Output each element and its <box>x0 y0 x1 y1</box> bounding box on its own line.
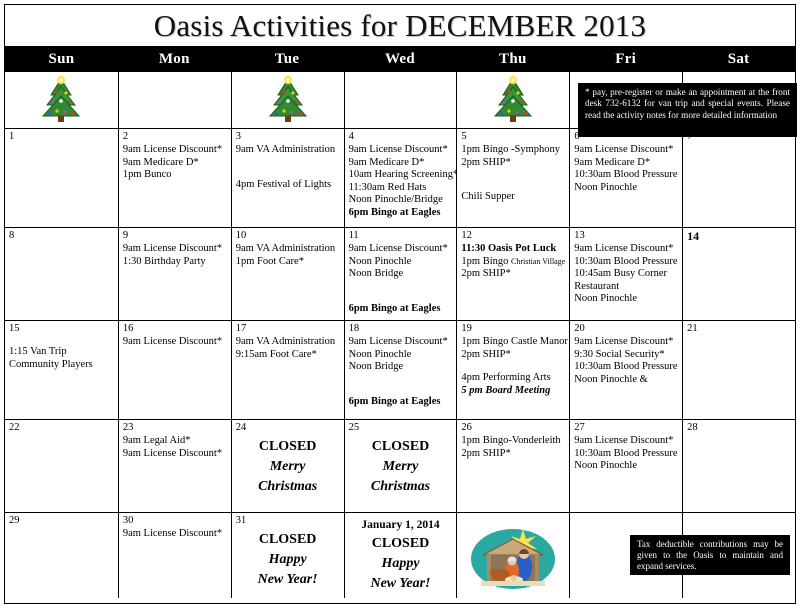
day-cell-31[interactable]: 31CLOSEDHappyNew Year! <box>231 513 344 598</box>
event-item: 9am Medicare D* <box>123 157 227 170</box>
event-item: 10:45am Busy Corner <box>574 268 678 281</box>
event-item: 6pm Bingo at Eagles <box>349 396 453 409</box>
day-cell-15[interactable]: 151:15 Van TripCommunity Players <box>5 321 118 419</box>
christmas-tree-icon <box>38 75 84 125</box>
weekday-header-row: SunMonTueWedThuFriSat <box>5 47 795 72</box>
event-item: 2pm SHIP* <box>461 157 565 170</box>
day-number: 28 <box>687 422 791 434</box>
day-cell-1[interactable]: 1 <box>5 129 118 227</box>
day-cell-30[interactable]: 309am License Discount* <box>118 513 231 598</box>
day-number: 15 <box>9 323 114 335</box>
event-item: 1pm Bingo Castle Manor <box>461 336 565 349</box>
event-item: 2pm SHIP* <box>461 268 565 281</box>
day-cell-8[interactable]: 8 <box>5 228 118 320</box>
day-number: 13 <box>574 230 678 242</box>
day-number: 14 <box>687 230 791 242</box>
calendar-title-bar: Oasis Activities for DECEMBER 2013 <box>5 5 795 47</box>
day-cell-28[interactable]: 28 <box>682 420 795 512</box>
day-cell-22[interactable]: 22 <box>5 420 118 512</box>
closed-notice: CLOSEDHappyNew Year! <box>236 530 340 590</box>
event-item: Noon Bridge <box>349 268 453 281</box>
day-cell-27[interactable]: 279am License Discount*10:30am Blood Pre… <box>569 420 682 512</box>
day-number: 26 <box>461 422 565 434</box>
day-number: 31 <box>236 515 340 527</box>
day-number: 18 <box>349 323 453 335</box>
day-cell-19[interactable]: 191pm Bingo Castle Manor2pm SHIP*4pm Per… <box>456 321 569 419</box>
day-number: 29 <box>9 515 114 527</box>
day-cell-7[interactable]: 7 <box>682 129 795 227</box>
event-item: 11:30am Red Hats <box>349 182 453 195</box>
day-number: 12 <box>461 230 565 242</box>
event-item: 11:30 Oasis Pot Luck <box>461 243 565 256</box>
calendar-page: Oasis Activities for DECEMBER 2013 SunMo… <box>0 0 800 608</box>
week-row-4: 22239am Legal Aid*9am License Discount*2… <box>5 419 795 512</box>
day-number: 20 <box>574 323 678 335</box>
event-item: 4pm Performing Arts <box>461 372 565 385</box>
event-item: Noon Pinochle <box>574 182 678 195</box>
event-item: Noon Pinochle/Bridge <box>349 194 453 207</box>
closed-line-0: CLOSED <box>349 534 453 554</box>
icon-cell-3 <box>344 72 457 128</box>
event-item: 1pm Bingo Christian Village <box>461 256 565 269</box>
day-number: 21 <box>687 323 791 335</box>
closed-notice: CLOSEDMerryChristmas <box>236 437 340 497</box>
day-cell-14[interactable]: 14 <box>682 228 795 320</box>
event-item: Noon Pinochle <box>349 256 453 269</box>
event-item: 9am License Discount* <box>574 435 678 448</box>
day-cell-17[interactable]: 179am VA Administration9:15am Foot Care* <box>231 321 344 419</box>
event-item: Noon Bridge <box>349 361 453 374</box>
event-item: 1pm Bingo-Vonderleith <box>461 435 565 448</box>
event-item: 1pm Foot Care* <box>236 256 340 269</box>
day-cell-13[interactable]: 139am License Discount*10:30am Blood Pre… <box>569 228 682 320</box>
day-cell-23[interactable]: 239am Legal Aid*9am License Discount* <box>118 420 231 512</box>
event-item: 9am License Discount* <box>349 336 453 349</box>
day-number: 27 <box>574 422 678 434</box>
weekday-header-tue: Tue <box>231 47 344 72</box>
event-item: 9:30 Social Security* <box>574 349 678 362</box>
event-item: Noon Pinochle <box>574 460 678 473</box>
day-number: 22 <box>9 422 114 434</box>
page-title: Oasis Activities for DECEMBER 2013 <box>154 9 646 43</box>
event-item: 2pm SHIP* <box>461 448 565 461</box>
closed-line-2: Christmas <box>236 477 340 497</box>
day-cell-21[interactable]: 21 <box>682 321 795 419</box>
closed-line-1: Merry <box>349 457 453 477</box>
event-item: 9am License Discount* <box>123 528 227 541</box>
weekday-header-fri: Fri <box>569 47 682 72</box>
event-item: 9am License Discount* <box>123 144 227 157</box>
day-cell-4[interactable]: 49am License Discount*9am Medicare D*10a… <box>344 129 457 227</box>
event-item: 1:15 Van Trip <box>9 346 114 359</box>
day-number: 4 <box>349 131 453 143</box>
event-item: 10:30am Blood Pressure <box>574 256 678 269</box>
weekday-header-thu: Thu <box>456 47 569 72</box>
weekday-header-sun: Sun <box>5 47 118 72</box>
event-item: Restaurant <box>574 281 678 294</box>
closed-date-label: January 1, 2014 <box>349 518 453 533</box>
day-cell-16[interactable]: 169am License Discount* <box>118 321 231 419</box>
event-item: 10am Hearing Screening* <box>349 169 453 182</box>
event-item: Noon Pinochle <box>574 293 678 306</box>
event-item: 9am License Discount* <box>574 336 678 349</box>
event-item: 6pm Bingo at Eagles <box>349 207 453 220</box>
day-cell-11[interactable]: 119am License Discount*Noon PinochleNoon… <box>344 228 457 320</box>
day-number: 23 <box>123 422 227 434</box>
day-number: 16 <box>123 323 227 335</box>
day-cell-9[interactable]: 99am License Discount*1:30 Birthday Part… <box>118 228 231 320</box>
christmas-tree-icon <box>9 74 114 126</box>
icon-cell-4 <box>456 72 569 128</box>
event-item: 9am VA Administration <box>236 336 340 349</box>
event-item: Noon Pinochle <box>349 349 453 362</box>
event-item: 9am Medicare D* <box>349 157 453 170</box>
day-cell-10[interactable]: 109am VA Administration1pm Foot Care* <box>231 228 344 320</box>
event-item: Community Players <box>9 359 114 372</box>
event-location: Christian Village <box>511 257 565 266</box>
day-number: 11 <box>349 230 453 242</box>
closed-line-0: CLOSED <box>236 437 340 457</box>
weekday-header-sat: Sat <box>682 47 795 72</box>
event-item: 10:30am Blood Pressure <box>574 448 678 461</box>
event-item: 9am VA Administration <box>236 243 340 256</box>
event-item: 6pm Bingo at Eagles <box>349 303 453 316</box>
day-number: 1 <box>9 131 114 143</box>
event-item: 9am Legal Aid* <box>123 435 227 448</box>
event-item: 9am License Discount* <box>574 144 678 157</box>
closed-line-2: New Year! <box>349 574 453 594</box>
event-item: 10:30am Blood Pressure <box>574 169 678 182</box>
day-number: 10 <box>236 230 340 242</box>
event-item: 9:15am Foot Care* <box>236 349 340 362</box>
nativity-scene-icon <box>461 515 565 598</box>
event-item: 9am License Discount* <box>123 336 227 349</box>
event-item: 9am License Discount* <box>123 243 227 256</box>
day-cell-12[interactable]: 1211:30 Oasis Pot Luck1pm Bingo Christia… <box>456 228 569 320</box>
day-cell-empty-4-3[interactable]: January 1, 2014CLOSEDHappyNew Year! <box>344 513 457 598</box>
event-item: 10:30am Blood Pressure <box>574 361 678 374</box>
front-desk-note: * pay, pre-register or make an appointme… <box>578 83 797 137</box>
event-item: 1pm Bingo -Symphony <box>461 144 565 157</box>
closed-line-2: Christmas <box>349 477 453 497</box>
day-cell-25[interactable]: 25CLOSEDMerryChristmas <box>344 420 457 512</box>
day-cell-6[interactable]: 69am License Discount*9am Medicare D*10:… <box>569 129 682 227</box>
day-number: 30 <box>123 515 227 527</box>
event-item: 4pm Festival of Lights <box>236 179 340 192</box>
event-item: 9am License Discount* <box>123 448 227 461</box>
week-row-2: 899am License Discount*1:30 Birthday Par… <box>5 227 795 320</box>
event-item: 2pm SHIP* <box>461 349 565 362</box>
day-number: 17 <box>236 323 340 335</box>
day-cell-24[interactable]: 24CLOSEDMerryChristmas <box>231 420 344 512</box>
day-cell-29[interactable]: 29 <box>5 513 118 598</box>
event-item: 9am License Discount* <box>349 144 453 157</box>
event-item: Chili Supper <box>461 191 565 204</box>
day-number: 25 <box>349 422 453 434</box>
event-item: 5 pm Board Meeting <box>461 385 565 398</box>
weekday-header-wed: Wed <box>344 47 457 72</box>
day-cell-empty-4-4[interactable] <box>456 513 569 598</box>
closed-notice: January 1, 2014CLOSEDHappyNew Year! <box>349 518 453 594</box>
icon-cell-2 <box>231 72 344 128</box>
calendar-frame: Oasis Activities for DECEMBER 2013 SunMo… <box>4 4 796 604</box>
icon-cell-1 <box>118 72 231 128</box>
event-item: 9am License Discount* <box>574 243 678 256</box>
icon-cell-0 <box>5 72 118 128</box>
day-number: 24 <box>236 422 340 434</box>
weekday-header-mon: Mon <box>118 47 231 72</box>
closed-line-1: Happy <box>236 550 340 570</box>
event-item: 1:30 Birthday Party <box>123 256 227 269</box>
tax-deductible-note: Tax deductible contributions may be give… <box>630 535 790 575</box>
day-number: 19 <box>461 323 565 335</box>
day-cell-18[interactable]: 189am License Discount*Noon PinochleNoon… <box>344 321 457 419</box>
day-cell-20[interactable]: 209am License Discount*9:30 Social Secur… <box>569 321 682 419</box>
closed-line-2: New Year! <box>236 570 340 590</box>
day-number: 8 <box>9 230 114 242</box>
closed-line-1: Merry <box>236 457 340 477</box>
week-row-1: 129am License Discount*9am Medicare D*1p… <box>5 128 795 227</box>
day-cell-26[interactable]: 261pm Bingo-Vonderleith2pm SHIP* <box>456 420 569 512</box>
day-cell-3[interactable]: 39am VA Administration4pm Festival of Li… <box>231 129 344 227</box>
closed-line-0: CLOSED <box>349 437 453 457</box>
closed-notice: CLOSEDMerryChristmas <box>349 437 453 497</box>
event-item: 9am Medicare D* <box>574 157 678 170</box>
day-cell-2[interactable]: 29am License Discount*9am Medicare D*1pm… <box>118 129 231 227</box>
event-item: Noon Pinochle & <box>574 374 678 387</box>
day-number: 3 <box>236 131 340 143</box>
christmas-tree-icon <box>461 74 565 126</box>
event-item: 9am VA Administration <box>236 144 340 157</box>
christmas-tree-icon <box>236 74 340 126</box>
day-number: 9 <box>123 230 227 242</box>
christmas-tree-icon <box>265 75 311 125</box>
event-text: 1pm Bingo <box>461 256 511 267</box>
event-item: 1pm Bunco <box>123 169 227 182</box>
calendar-grid: 129am License Discount*9am Medicare D*1p… <box>5 72 795 598</box>
nativity-scene-icon <box>467 525 559 591</box>
closed-line-1: Happy <box>349 554 453 574</box>
day-number: 5 <box>461 131 565 143</box>
closed-line-0: CLOSED <box>236 530 340 550</box>
day-cell-5[interactable]: 51pm Bingo -Symphony2pm SHIP*Chili Suppe… <box>456 129 569 227</box>
event-item: 9am License Discount* <box>349 243 453 256</box>
day-number: 2 <box>123 131 227 143</box>
week-row-3: 151:15 Van TripCommunity Players169am Li… <box>5 320 795 419</box>
christmas-tree-icon <box>490 75 536 125</box>
